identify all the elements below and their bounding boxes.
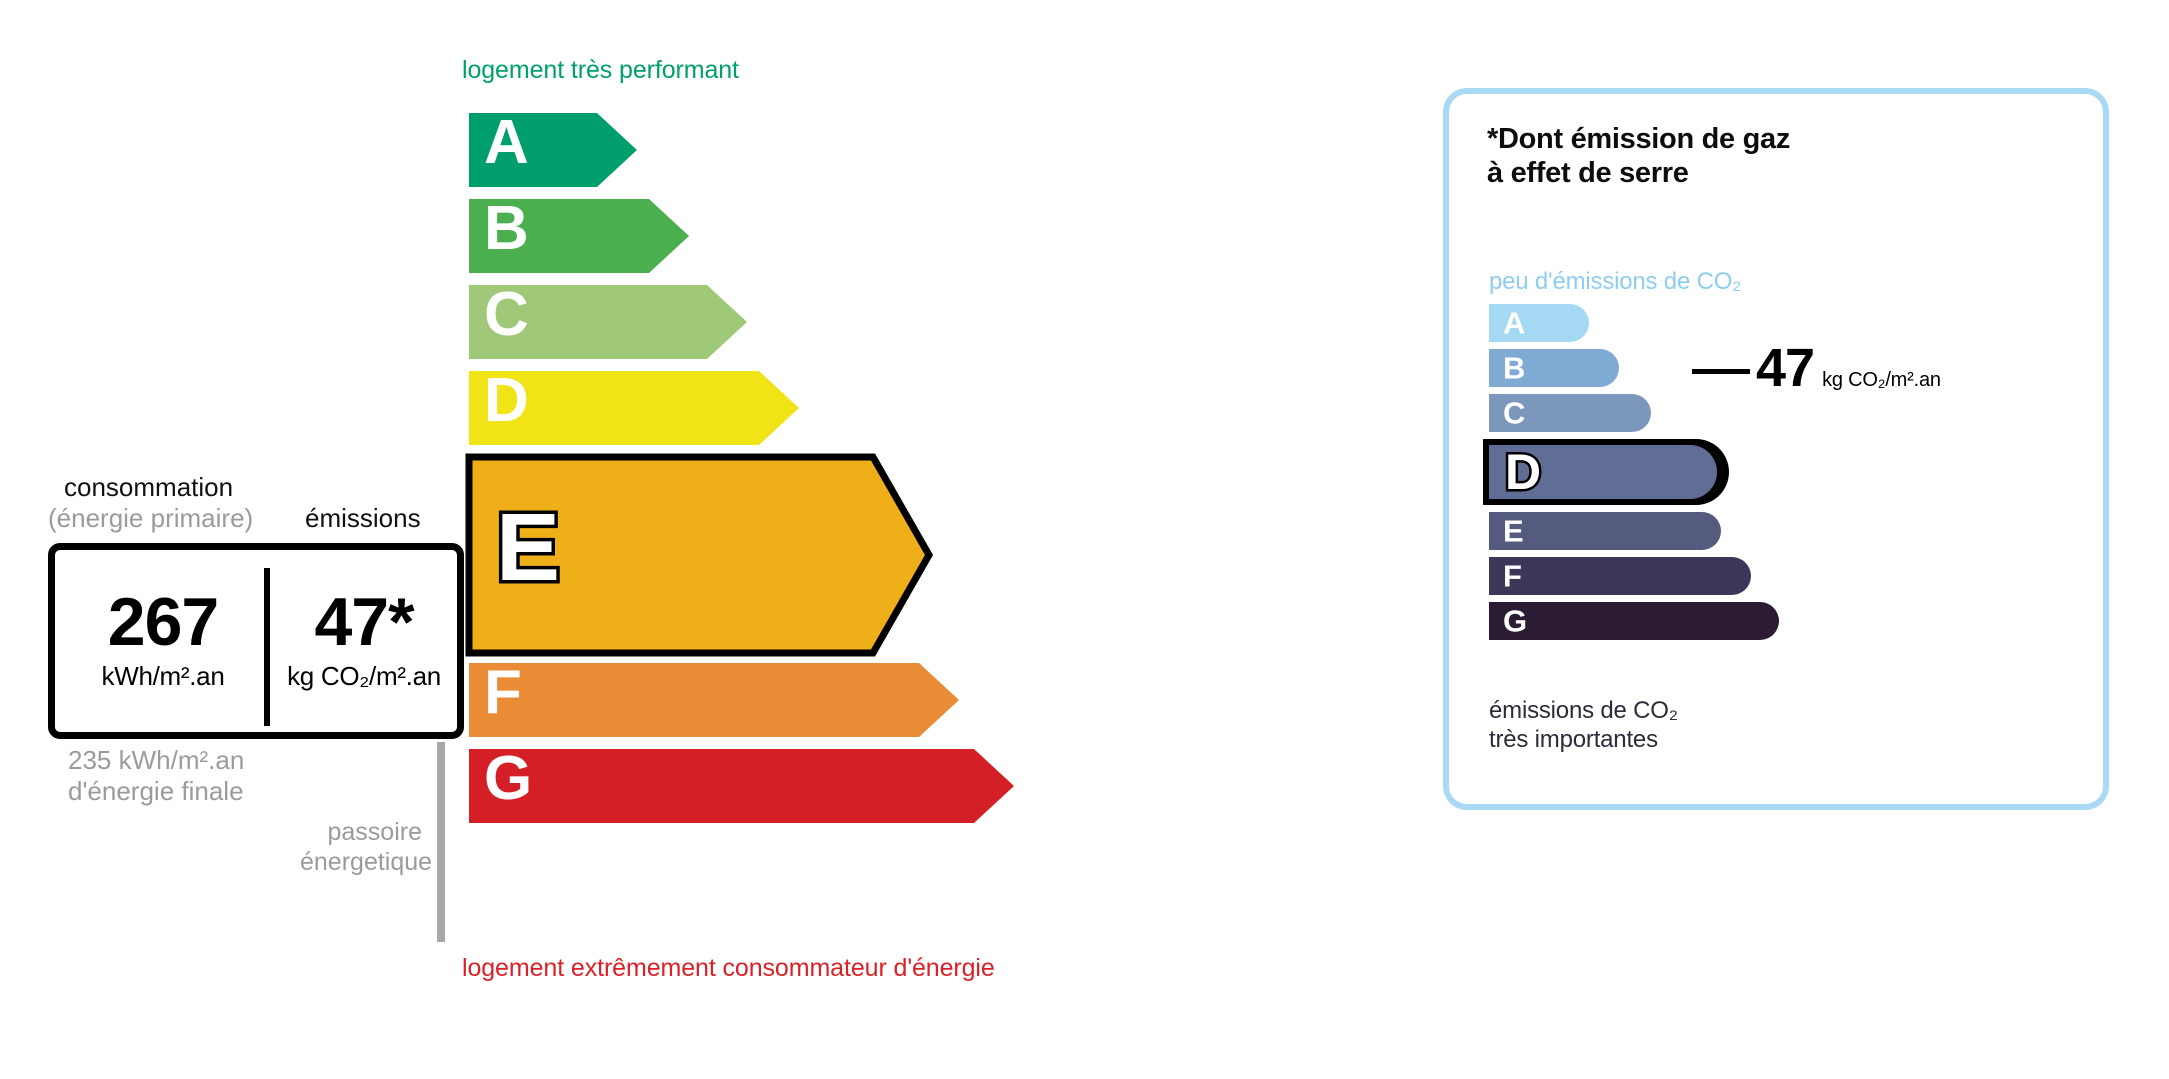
ghg-bar-a: A: [1489, 304, 2089, 342]
ghg-bar-letter-b: B: [1503, 353, 1525, 384]
ghg-bar-shape-g: G: [1489, 602, 1779, 640]
ghg-bar-shape-f: F: [1489, 557, 1751, 595]
energy-bottom-caption: logement extrêmement consommateur d'éner…: [462, 954, 995, 983]
energy-band-shape-a: A: [462, 106, 1282, 180]
ghg-bar-e: E: [1489, 512, 2089, 550]
ghg-bar-d: D: [1489, 439, 2089, 505]
ghg-bar-shape-e: E: [1489, 512, 1721, 550]
ghg-bottom-caption: émissions de CO₂ très importantes: [1489, 697, 1678, 755]
ghg-callout-value: 47: [1756, 341, 1814, 395]
passoire-bracket-line: [437, 742, 445, 942]
energy-band-list: ABCDEFG: [462, 106, 1282, 828]
ghg-bar-c: C: [1489, 394, 2089, 432]
energy-band-e: E: [462, 450, 1282, 646]
ghg-bar-letter-e: E: [1503, 516, 1524, 547]
value-box: 267 kWh/m².an 47* kg CO₂/m².an: [48, 543, 464, 739]
ghg-callout: 47 kg CO₂/m².an: [1692, 341, 1941, 395]
ghg-bar-letter-c: C: [1503, 398, 1525, 429]
ghg-bar-shape-d: D: [1489, 439, 1729, 505]
ghg-bar-g: G: [1489, 602, 2089, 640]
ghg-bar-shape-b: B: [1489, 349, 1619, 387]
ghg-bar-f: F: [1489, 557, 2089, 595]
ghg-top-caption: peu d'émissions de CO₂: [1489, 268, 1741, 296]
energy-band-g: G: [462, 742, 1282, 816]
energy-band-f: F: [462, 656, 1282, 730]
energy-band-shape-f: F: [462, 656, 1282, 730]
energy-band-d: D: [462, 364, 1282, 438]
ghg-callout-unit: kg CO₂/m².an: [1822, 369, 1941, 392]
ghg-bar-shape-c: C: [1489, 394, 1651, 432]
ghg-bar-shape-a: A: [1489, 304, 1589, 342]
value-box-divider: [264, 568, 270, 726]
energy-performance-diagram: logement très performant ABCDEFG logemen…: [0, 0, 1400, 1079]
emission-value-cell: 47* kg CO₂/m².an: [271, 550, 457, 732]
energy-band-a: A: [462, 106, 1282, 180]
consumption-value-cell: 267 kWh/m².an: [55, 550, 271, 732]
energy-band-c: C: [462, 278, 1282, 352]
energy-band-b: B: [462, 192, 1282, 266]
passoire-energetique-label: passoire énergetique: [300, 818, 422, 877]
ghg-panel: *Dont émission de gaz à effet de serre p…: [1443, 88, 2109, 810]
emissions-label: émissions: [305, 503, 421, 534]
consumption-unit: kWh/m².an: [102, 661, 225, 692]
energy-band-shape-c: C: [462, 278, 1282, 352]
emission-unit: kg CO₂/m².an: [287, 661, 441, 692]
energy-band-shape-e: E: [462, 450, 1282, 646]
callout-leader-line: [1692, 369, 1750, 374]
energy-band-shape-d: D: [462, 364, 1282, 438]
ghg-bar-letter-f: F: [1503, 561, 1522, 592]
ghg-bar-letter-g: G: [1503, 606, 1527, 637]
energy-band-shape-b: B: [462, 192, 1282, 266]
energie-finale-label: 235 kWh/m².an d'énergie finale: [68, 745, 244, 806]
energy-band-shape-g: G: [462, 742, 1282, 816]
consumption-number: 267: [108, 590, 218, 655]
energie-primaire-label: (énergie primaire): [48, 503, 253, 534]
ghg-bar-letter-d: D: [1505, 447, 1541, 497]
consommation-label: consommation: [64, 472, 233, 503]
ghg-panel-title: *Dont émission de gaz à effet de serre: [1487, 122, 1790, 190]
ghg-bar-letter-a: A: [1503, 308, 1525, 339]
emission-number: 47*: [314, 590, 413, 655]
energy-top-caption: logement très performant: [462, 56, 739, 85]
